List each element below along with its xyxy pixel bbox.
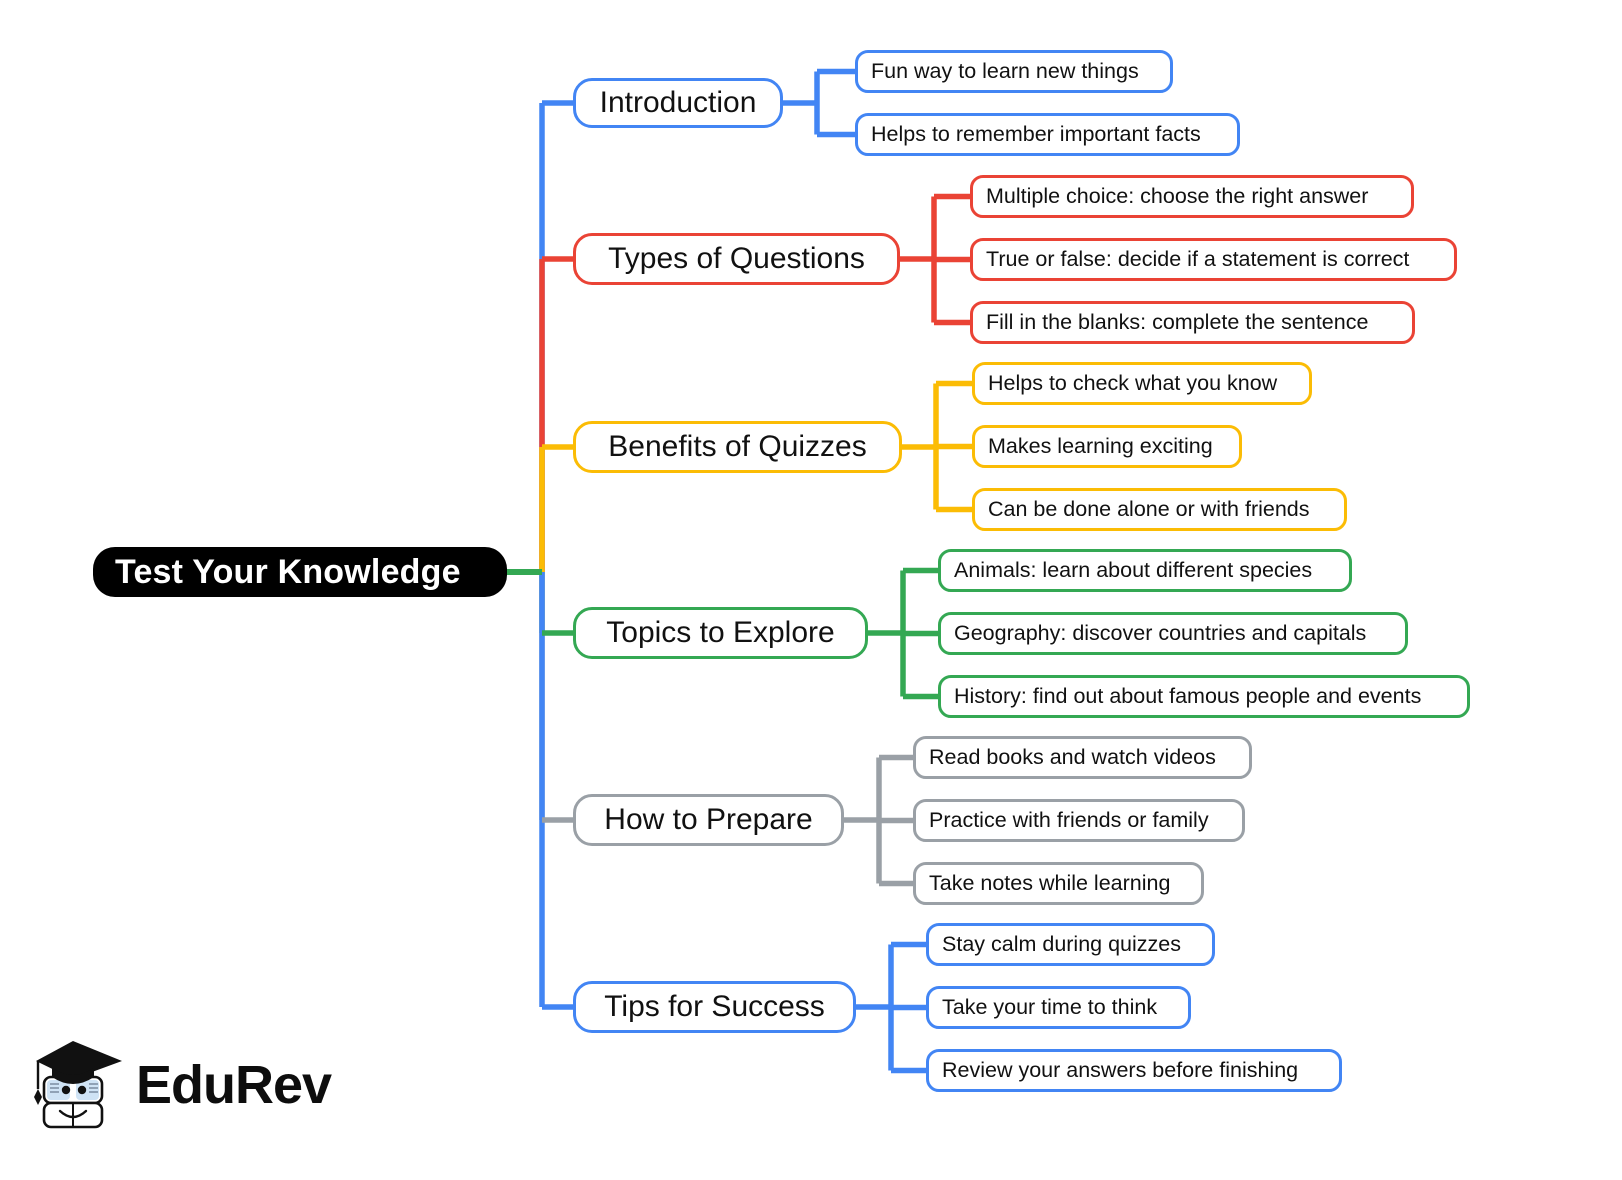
branch-node-how-to-prepare[interactable]: How to Prepare bbox=[573, 794, 844, 846]
branch-node-benefits-of-quizzes[interactable]: Benefits of Quizzes bbox=[573, 421, 902, 473]
branch-node-types-of-questions[interactable]: Types of Questions bbox=[573, 233, 900, 285]
branch-node-tips-for-success[interactable]: Tips for Success bbox=[573, 981, 856, 1033]
edurev-wordmark: EduRev bbox=[136, 1054, 331, 1116]
edurev-logo: EduRev bbox=[30, 1030, 320, 1140]
leaf-node-benefits-of-quizzes-2[interactable]: Can be done alone or with friends bbox=[972, 488, 1347, 531]
leaf-node-benefits-of-quizzes-1[interactable]: Makes learning exciting bbox=[972, 425, 1242, 468]
edurev-mascot-icon bbox=[30, 1033, 126, 1137]
leaf-node-introduction-1[interactable]: Helps to remember important facts bbox=[855, 113, 1240, 156]
leaf-node-topics-to-explore-1[interactable]: Geography: discover countries and capita… bbox=[938, 612, 1408, 655]
leaf-node-benefits-of-quizzes-0[interactable]: Helps to check what you know bbox=[972, 362, 1312, 405]
mindmap-canvas: Test Your Knowledge IntroductionFun way … bbox=[0, 0, 1622, 1180]
leaf-node-types-of-questions-2[interactable]: Fill in the blanks: complete the sentenc… bbox=[970, 301, 1415, 344]
leaf-node-types-of-questions-0[interactable]: Multiple choice: choose the right answer bbox=[970, 175, 1414, 218]
leaf-node-tips-for-success-1[interactable]: Take your time to think bbox=[926, 986, 1191, 1029]
leaf-node-how-to-prepare-1[interactable]: Practice with friends or family bbox=[913, 799, 1245, 842]
branch-node-topics-to-explore[interactable]: Topics to Explore bbox=[573, 607, 868, 659]
leaf-node-how-to-prepare-0[interactable]: Read books and watch videos bbox=[913, 736, 1252, 779]
branch-node-introduction[interactable]: Introduction bbox=[573, 78, 783, 128]
leaf-node-topics-to-explore-2[interactable]: History: find out about famous people an… bbox=[938, 675, 1470, 718]
leaf-node-how-to-prepare-2[interactable]: Take notes while learning bbox=[913, 862, 1204, 905]
leaf-node-types-of-questions-1[interactable]: True or false: decide if a statement is … bbox=[970, 238, 1457, 281]
leaf-node-topics-to-explore-0[interactable]: Animals: learn about different species bbox=[938, 549, 1352, 592]
leaf-node-introduction-0[interactable]: Fun way to learn new things bbox=[855, 50, 1173, 93]
leaf-node-tips-for-success-2[interactable]: Review your answers before finishing bbox=[926, 1049, 1342, 1092]
leaf-node-tips-for-success-0[interactable]: Stay calm during quizzes bbox=[926, 923, 1215, 966]
root-node[interactable]: Test Your Knowledge bbox=[93, 547, 507, 597]
